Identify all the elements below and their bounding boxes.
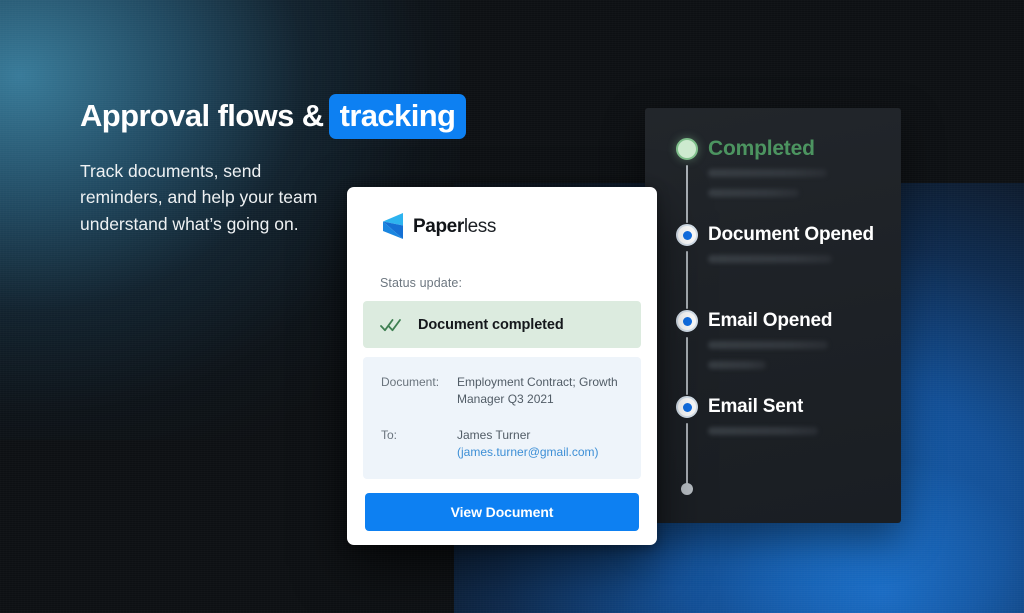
brand-wordmark: Paperless [413,217,496,236]
detail-value: James Turner(james.turner@gmail.com) [457,427,599,461]
timeline-item-label: Email Opened [708,310,887,332]
card-header: Paperless [347,187,657,239]
brand-name-bold: Paper [413,216,464,237]
email-preview-card: Paperless Status update: Document comple… [347,187,657,545]
document-details-block: Document: Employment Contract; Growth Ma… [363,357,641,479]
timeline-item-completed[interactable]: Completed [676,138,887,209]
placeholder-bar [708,189,799,197]
double-check-icon [380,318,402,332]
status-banner-text: Document completed [418,317,564,333]
timeline-status-dot-icon [676,224,698,246]
recipient-email-link[interactable]: (james.turner@gmail.com) [457,444,599,461]
recipient-name: James Turner [457,428,530,442]
status-banner: Document completed [363,301,641,348]
detail-row-recipient: To: James Turner(james.turner@gmail.com) [381,427,623,461]
detail-value: Employment Contract; Growth Manager Q3 2… [457,374,623,408]
timeline-list: Completed Document Opened Email Opened [676,138,901,523]
timeline-placeholder-bars [708,341,887,369]
hero-subcopy: Track documents, send reminders, and hel… [80,158,335,238]
timeline-item-email-sent[interactable]: Email Sent [676,396,887,447]
detail-key: To: [381,427,457,461]
brand-name-light: less [464,216,496,237]
timeline-end-dot [681,483,693,495]
screenshot-root: Approval flows &tracking Track documents… [0,0,1024,613]
timeline-status-dot-icon [676,310,698,332]
timeline-item-email-opened[interactable]: Email Opened [676,310,887,381]
placeholder-bar [708,361,766,369]
placeholder-bar [708,169,827,177]
cta-container: View Document [347,479,657,531]
timeline-status-dot-completed-icon [676,138,698,160]
placeholder-bar [708,341,828,349]
timeline-item-label: Document Opened [708,224,887,246]
placeholder-bar [708,427,818,435]
timeline-placeholder-bars [708,169,887,197]
view-document-button[interactable]: View Document [365,493,639,531]
timeline-item-label: Email Sent [708,396,887,418]
page-title: Approval flows &tracking [80,94,466,139]
timeline-placeholder-bars [708,427,887,435]
timeline-item-label: Completed [708,138,887,160]
timeline-status-dot-icon [676,396,698,418]
paperless-logo-icon [380,213,404,239]
headline-plain-text: Approval flows & [80,98,324,133]
placeholder-bar [708,255,832,263]
detail-key: Document: [381,374,457,408]
detail-row-document: Document: Employment Contract; Growth Ma… [381,374,623,408]
timeline-item-document-opened[interactable]: Document Opened [676,224,887,275]
tracking-timeline-panel: Completed Document Opened Email Opened [645,108,901,523]
status-update-label: Status update: [380,276,657,290]
headline-highlight-text: tracking [329,94,467,139]
timeline-placeholder-bars [708,255,887,263]
